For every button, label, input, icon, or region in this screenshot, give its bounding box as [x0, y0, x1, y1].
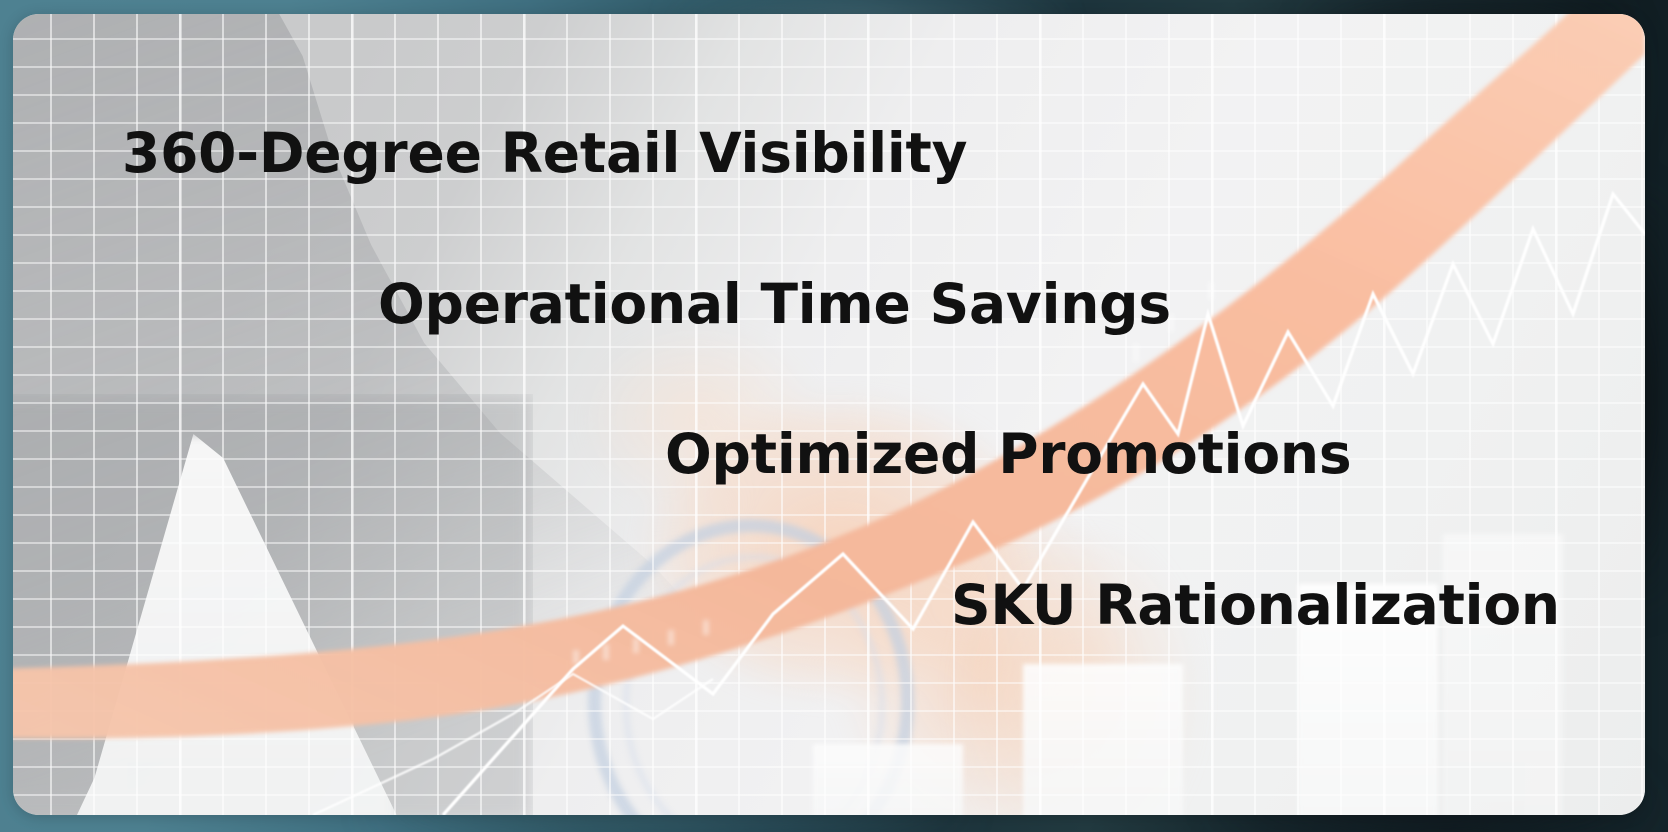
headline-stack: 360-Degree Retail Visibility Operational…	[13, 14, 1645, 815]
headline-retail-visibility: 360-Degree Retail Visibility	[122, 126, 967, 181]
headline-optimized-promotions: Optimized Promotions	[665, 427, 1351, 482]
headline-operational-time-savings: Operational Time Savings	[378, 277, 1171, 332]
content-card: 360-Degree Retail Visibility Operational…	[13, 14, 1645, 815]
headline-sku-rationalization: SKU Rationalization	[951, 578, 1560, 633]
slide-canvas: 360-Degree Retail Visibility Operational…	[0, 0, 1668, 832]
